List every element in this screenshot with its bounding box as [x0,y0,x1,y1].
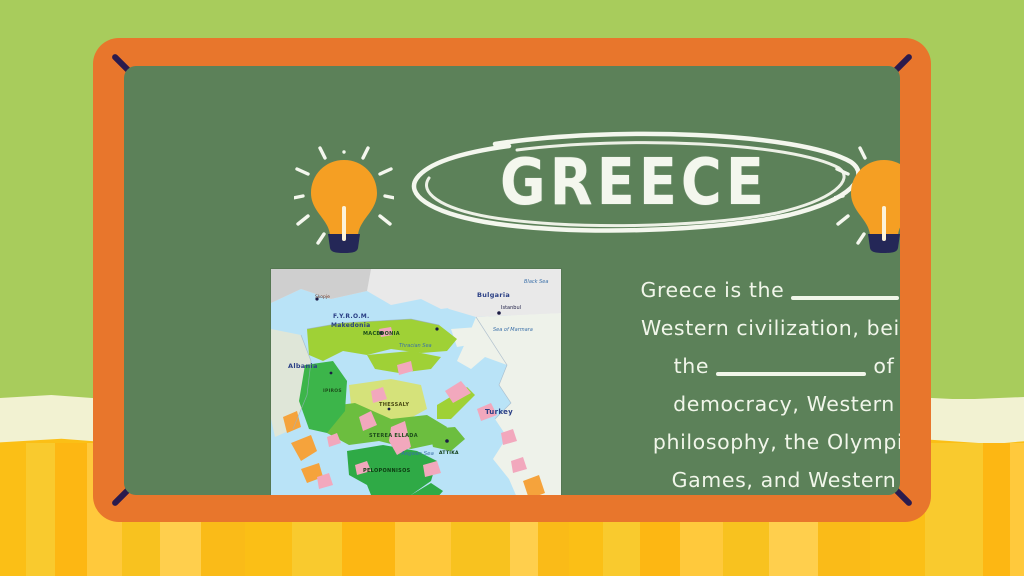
paragraph-line-2: Western civilization, being [584,309,900,347]
desk-stripe [26,443,55,576]
paragraph-text: Greece is the [640,278,784,302]
lightbulb-icon-left [294,146,394,256]
paragraph-line-6: Games, and Western [584,461,900,495]
paragraph-line-1: Greece is the of [584,271,900,309]
desk-stripe [1010,443,1024,576]
paragraph-line-3: the of [584,347,900,385]
desk-stripe [55,443,87,576]
paragraph-line-5: philosophy, the Olympic [584,423,900,461]
paragraph-text: of [873,354,894,378]
desk-stripe [0,443,26,576]
lightbulb-icon-right [834,146,900,256]
slide-canvas: GREECE [0,0,1024,576]
blank-2[interactable] [716,372,866,376]
blank-1[interactable] [791,296,899,300]
map-of-greece-image: SkopjeF.Y.R.O.M.MakedoniaBulgariaAlbania… [271,269,561,495]
desk-stripe [925,443,983,576]
title-group: GREECE [399,128,869,238]
chalkboard-surface: GREECE [124,66,900,495]
chalkboard-frame: GREECE [93,38,931,522]
paragraph-text: the [674,354,709,378]
page-title: GREECE [392,151,876,215]
fill-in-the-blank-paragraph: Greece is the of Western civilization, b… [584,271,900,495]
desk-stripe [983,443,1010,576]
paragraph-line-4: democracy, Western [584,385,900,423]
